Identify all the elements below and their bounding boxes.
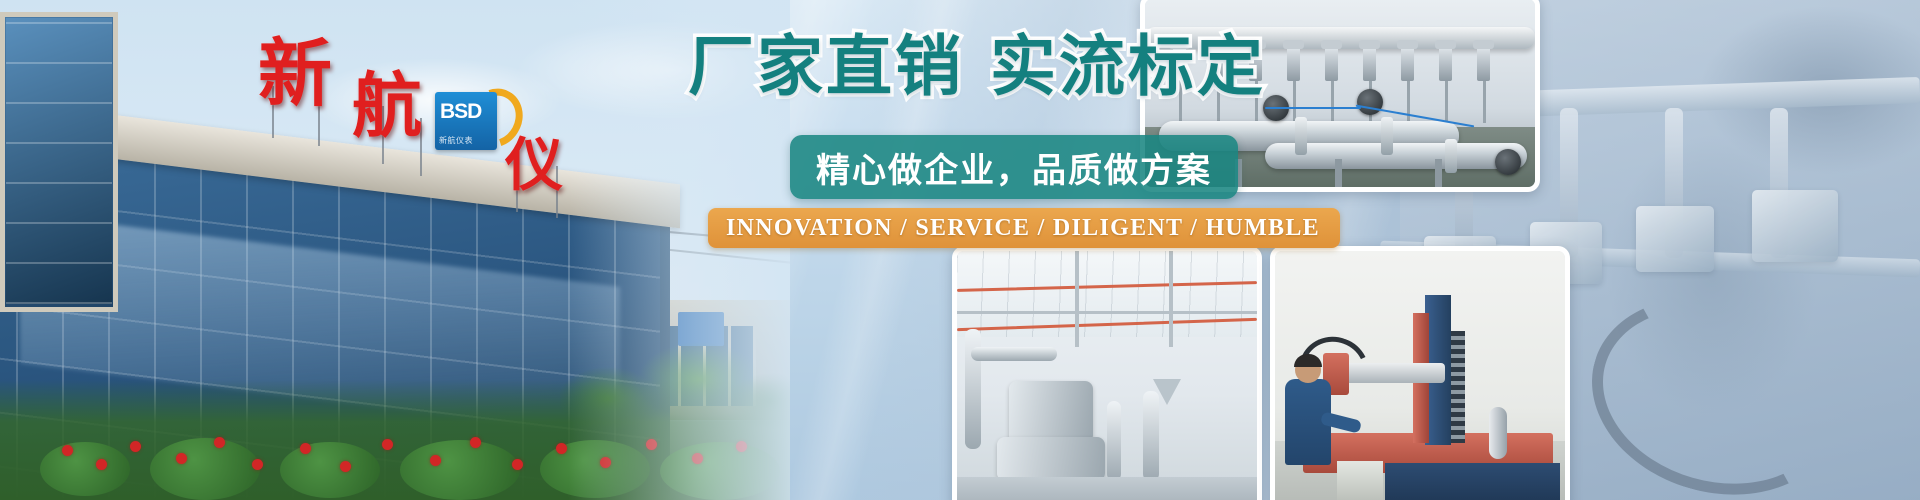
rig-support — [1435, 159, 1442, 187]
flower — [646, 439, 657, 450]
flower — [692, 453, 703, 464]
flower — [512, 459, 523, 470]
pipework-hall-photo — [952, 246, 1262, 500]
flower — [300, 443, 311, 454]
cnc-blue-base — [1385, 463, 1560, 500]
promo-banner: 新 航 仪 BSD 新航仪表 — [0, 0, 1920, 500]
shrub-2 — [150, 438, 260, 500]
rig-valve — [1325, 47, 1338, 81]
flower — [600, 457, 611, 468]
flower — [470, 437, 481, 448]
hall-column-1 — [1075, 251, 1079, 347]
shrub-4 — [400, 440, 520, 500]
rig-drop-line — [1331, 81, 1334, 123]
hall-vessel-1 — [1009, 381, 1093, 443]
flower — [556, 443, 567, 454]
flower — [130, 441, 141, 452]
rig-support — [1335, 159, 1342, 187]
banner-tagline-bar: INNOVATION / SERVICE / DILIGENT / HUMBLE — [708, 208, 1340, 248]
hall-floor — [957, 477, 1257, 500]
flower — [736, 441, 747, 452]
flower — [340, 461, 351, 472]
rig-valve — [1439, 47, 1452, 81]
shrub-6 — [660, 442, 780, 500]
rig-flange — [1381, 117, 1393, 155]
banner-tagline-text: INNOVATION / SERVICE / DILIGENT / HUMBLE — [726, 215, 1320, 242]
rig-flange — [1295, 117, 1307, 155]
banner-subtitle-pill: 精心做企业，品质做方案 — [790, 135, 1238, 199]
hall-header-pipe — [971, 347, 1057, 361]
rig-sensor-head — [1357, 89, 1383, 115]
flower — [96, 459, 107, 470]
flower — [382, 439, 393, 450]
background-transmitter-3 — [1636, 206, 1714, 272]
shrub-1 — [40, 442, 130, 496]
flower — [252, 459, 263, 470]
shrub-3 — [280, 442, 380, 498]
worker-cnc-photo — [1270, 246, 1570, 500]
rooftop-sign-char-1: 新 — [258, 14, 332, 121]
hall-column-2 — [1169, 251, 1173, 347]
cnc-control-box — [1337, 461, 1383, 500]
cnc-cable-chain — [1451, 331, 1465, 443]
bsd-logo: BSD 新航仪表 — [435, 92, 497, 150]
factory-building-photo: 新 航 仪 BSD 新航仪表 — [0, 0, 790, 500]
rig-valve — [1477, 47, 1490, 81]
corner-tower-glass — [6, 18, 112, 304]
hall-vessel-2 — [997, 437, 1105, 481]
rig-drop-line — [1445, 81, 1448, 123]
rig-flange — [1445, 139, 1457, 173]
flower — [176, 453, 187, 464]
flower — [62, 445, 73, 456]
rig-drop-line — [1407, 81, 1410, 123]
rooftop-sign-char-2: 航 — [352, 50, 422, 151]
rig-sensor-head — [1495, 149, 1521, 175]
rig-valve — [1401, 47, 1414, 81]
rig-drop-line — [1483, 81, 1486, 123]
flower — [430, 455, 441, 466]
hall-beam-1 — [957, 311, 1257, 314]
hall-column-pipe-1 — [1107, 401, 1121, 481]
flower — [214, 437, 225, 448]
background-transmitter-4 — [1752, 190, 1838, 262]
bsd-logo-text: BSD — [440, 100, 481, 124]
banner-subtitle-text: 精心做企业，品质做方案 — [816, 143, 1212, 192]
gas-cylinder — [1489, 407, 1507, 459]
hall-separator-cone — [1153, 379, 1181, 405]
rig-signal-cable — [1265, 107, 1361, 109]
bsd-logo-subtext: 新航仪表 — [439, 135, 473, 146]
banner-headline: 厂家直销 实流标定 — [688, 34, 1266, 100]
rig-valve — [1363, 47, 1376, 81]
rig-valve — [1287, 47, 1300, 81]
